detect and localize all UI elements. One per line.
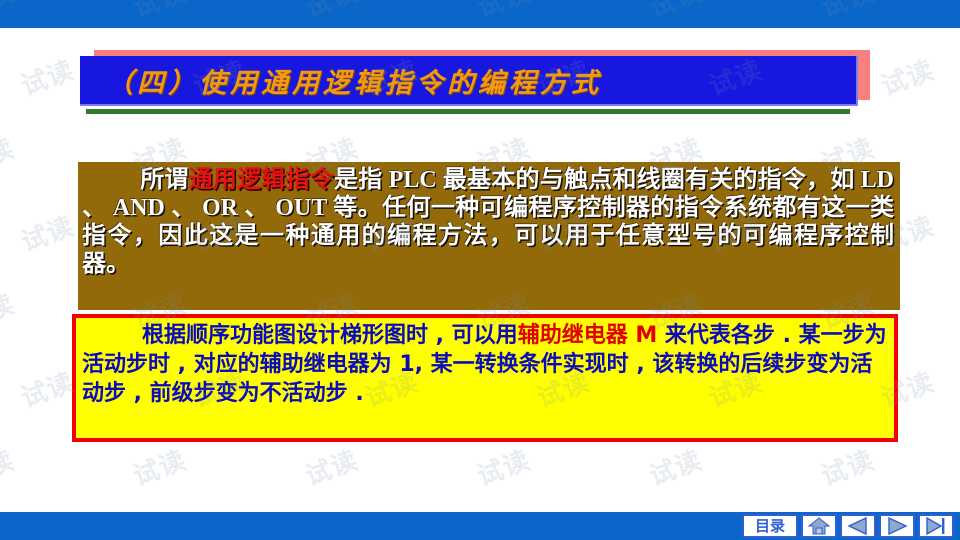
watermark-text: 试读 bbox=[15, 50, 78, 103]
watermark-text: 试读 bbox=[0, 440, 19, 493]
next-button[interactable] bbox=[879, 514, 915, 538]
brown-lead-in: 所谓 bbox=[140, 167, 189, 193]
home-icon bbox=[808, 517, 830, 535]
brown-content-box: 所谓通用逻辑指令是指 PLC 最基本的与触点和线圈有关的指令，如 LD 、 AN… bbox=[78, 162, 900, 310]
navigation-buttons: 目录 bbox=[742, 513, 954, 539]
triangle-right-icon bbox=[886, 517, 908, 535]
slide-title-block: （四）使用通用逻辑指令的编程方式 bbox=[80, 50, 870, 112]
contents-button[interactable]: 目录 bbox=[742, 514, 798, 538]
slide: PLC 原理及应用 （四）使用通用逻辑指令的编程方式 所谓通用逻辑指令是指 PL… bbox=[0, 0, 960, 540]
yellow-paragraph: 根据顺序功能图设计梯形图时 , 可以用辅助继电器 M 来代表各步 . 某一步为活… bbox=[82, 321, 889, 408]
watermark-text: 试读 bbox=[471, 440, 534, 493]
watermark-text: 试读 bbox=[875, 50, 938, 103]
yellow-part1-text: 根据顺序功能图设计梯形图时 , 可以用 bbox=[142, 323, 518, 348]
watermark-text: 试读 bbox=[0, 128, 19, 181]
previous-button[interactable] bbox=[840, 514, 876, 538]
yellow-content-box: 根据顺序功能图设计梯形图时 , 可以用辅助继电器 M 来代表各步 . 某一步为活… bbox=[72, 314, 898, 442]
watermark-text: 试读 bbox=[0, 284, 19, 337]
slide-title-text: （四）使用通用逻辑指令的编程方式 bbox=[80, 61, 602, 100]
watermark-text: 试读 bbox=[643, 440, 706, 493]
home-button[interactable] bbox=[801, 514, 837, 538]
watermark-text: 试读 bbox=[127, 440, 190, 493]
title-box: （四）使用通用逻辑指令的编程方式 bbox=[80, 56, 858, 106]
header-bar bbox=[0, 0, 960, 28]
triangle-right-bar-icon bbox=[925, 517, 947, 535]
watermark-text: 试读 bbox=[15, 362, 78, 415]
title-underline bbox=[86, 109, 850, 114]
triangle-left-icon bbox=[847, 517, 869, 535]
watermark-text: 试读 bbox=[815, 440, 878, 493]
last-slide-button[interactable] bbox=[918, 514, 954, 538]
brown-paragraph: 所谓通用逻辑指令是指 PLC 最基本的与触点和线圈有关的指令，如 LD 、 AN… bbox=[82, 166, 894, 278]
contents-button-label: 目录 bbox=[755, 517, 785, 535]
yellow-highlight-term: 辅助继电器 M bbox=[518, 323, 658, 348]
brown-highlight-term: 通用逻辑指令 bbox=[189, 167, 334, 193]
watermark-text: 试读 bbox=[15, 206, 78, 259]
watermark-text: 试读 bbox=[299, 440, 362, 493]
